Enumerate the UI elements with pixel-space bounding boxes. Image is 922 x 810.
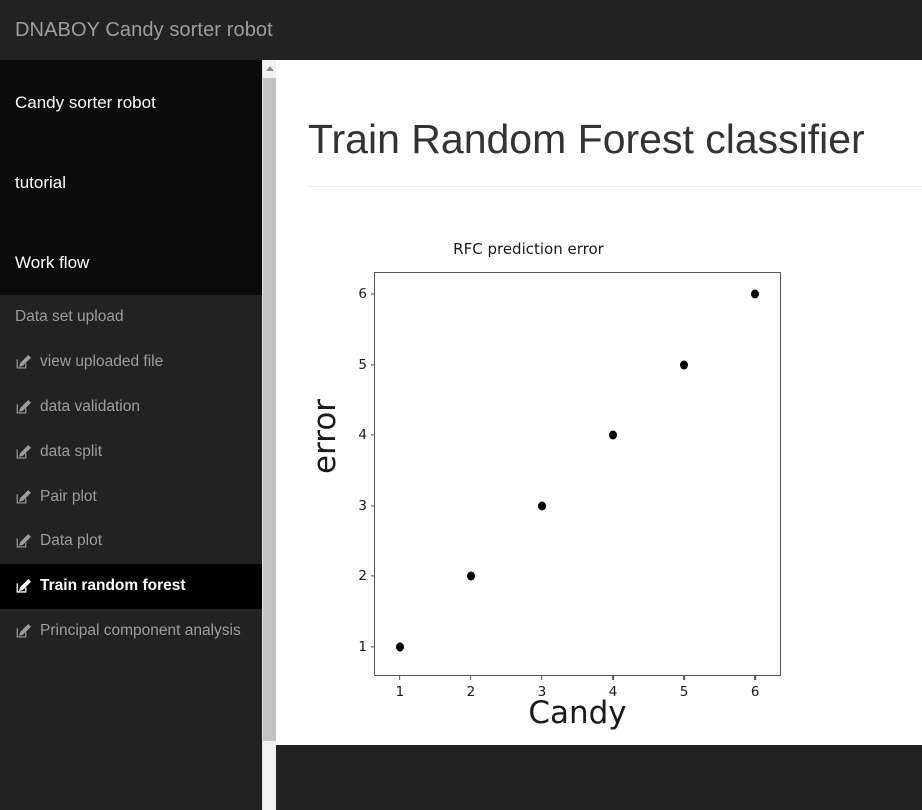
page-title: Train Random Forest classifier — [276, 60, 922, 160]
sidebar-nav: Candy sorter robot tutorial Work flow Da… — [0, 60, 262, 810]
sidebar-item-label: view uploaded file — [40, 352, 163, 373]
scrollbar-thumb[interactable] — [263, 78, 276, 741]
main-content: Train Random Forest classifier RFC predi… — [276, 60, 922, 745]
caret-up-icon — [266, 66, 274, 71]
title-divider — [308, 186, 922, 187]
sidebar-heading-candy-sorter-robot[interactable]: Candy sorter robot — [0, 82, 262, 125]
edit-icon — [15, 623, 32, 640]
chart-y-tick-label: 3 — [358, 498, 375, 514]
chart-data-point — [751, 290, 759, 299]
edit-icon — [15, 399, 32, 416]
sidebar-item-label: Train random forest — [40, 576, 186, 597]
chart-y-axis-label: error — [307, 399, 343, 474]
chart-container: RFC prediction error 123456123456 error … — [276, 230, 922, 745]
sidebar-item-label: data split — [40, 442, 102, 463]
edit-icon — [15, 578, 32, 595]
edit-icon — [15, 354, 32, 371]
edit-icon — [15, 489, 32, 506]
sidebar-heading-group: Candy sorter robot tutorial Work flow — [0, 60, 262, 295]
sidebar-item-label: Data plot — [40, 531, 102, 552]
chart-y-tick-label: 5 — [358, 357, 375, 373]
sidebar-item-label: data validation — [40, 397, 140, 418]
sidebar-item-group: Data set upload view uploaded file data … — [0, 295, 262, 654]
chart-x-axis-label: Candy — [374, 695, 781, 731]
sidebar-item-label: Principal component analysis — [40, 621, 241, 642]
sidebar-item-pair-plot[interactable]: Pair plot — [0, 475, 262, 520]
sidebar-item-data-plot[interactable]: Data plot — [0, 519, 262, 564]
sidebar-item-train-random-forest[interactable]: Train random forest — [0, 564, 262, 609]
sidebar-item-data-split[interactable]: data split — [0, 430, 262, 475]
sidebar-item-data-set-upload[interactable]: Data set upload — [0, 295, 262, 340]
chart-y-tick-label: 6 — [358, 286, 375, 302]
sidebar-item-label: Pair plot — [40, 487, 97, 508]
chart-plot-area: 123456123456 — [374, 272, 781, 676]
sidebar-item-label: Data set upload — [15, 307, 124, 328]
app-brand-title[interactable]: DNABOY Candy sorter robot — [0, 19, 273, 42]
sidebar-item-principal-component-analysis[interactable]: Principal component analysis — [0, 609, 262, 654]
chart-data-point — [680, 360, 688, 369]
chart-y-tick-label: 1 — [358, 639, 375, 655]
sidebar-heading-tutorial[interactable]: tutorial — [0, 162, 262, 205]
edit-icon — [15, 533, 32, 550]
chart-data-point — [396, 642, 404, 651]
sidebar-item-view-uploaded-file[interactable]: view uploaded file — [0, 340, 262, 385]
chart-data-point — [609, 431, 617, 440]
chart-y-tick-label: 2 — [358, 568, 375, 584]
chart-title: RFC prediction error — [276, 240, 781, 258]
scrollbar-up-button[interactable] — [263, 60, 276, 76]
chart-data-point — [467, 572, 475, 581]
footer-strip — [276, 745, 922, 810]
edit-icon — [15, 444, 32, 461]
sidebar-heading-work-flow[interactable]: Work flow — [0, 242, 262, 285]
app-header: DNABOY Candy sorter robot — [0, 0, 922, 60]
sidebar-item-data-validation[interactable]: data validation — [0, 385, 262, 430]
sidebar-scrollbar[interactable] — [262, 60, 276, 810]
chart-y-tick-label: 4 — [358, 427, 375, 443]
chart-data-point — [538, 501, 546, 510]
